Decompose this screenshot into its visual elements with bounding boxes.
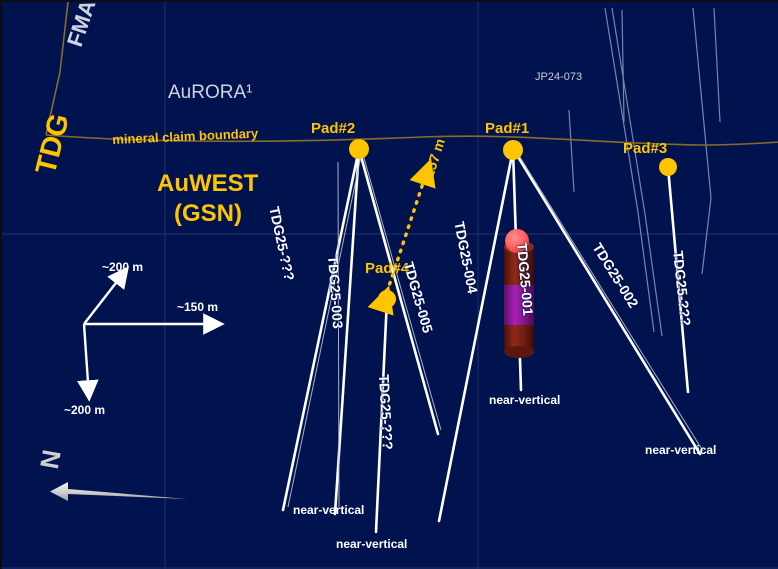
mineral-claim-boundary — [46, 2, 778, 145]
trace-tdg25-pad4 — [376, 299, 387, 532]
trace-tdg25-005 — [359, 149, 438, 434]
pad-marker-2 — [349, 139, 369, 159]
trace-tdg25-unknown-east — [668, 167, 688, 392]
distance-arrow-157m — [387, 165, 429, 292]
north-arrow — [50, 482, 187, 501]
drill-core-tdg25-001 — [504, 229, 534, 358]
pad-marker-1 — [503, 140, 523, 160]
pad-marker-4 — [378, 290, 396, 308]
drill-plan-map: FMAR AuRORA¹ TDG AuWEST (GSN) mineral cl… — [0, 0, 778, 569]
scale-bar — [84, 270, 220, 397]
pad-marker-3 — [659, 158, 677, 176]
trace-tdg25-002 — [515, 152, 700, 454]
trace-tdg25-004 — [439, 150, 513, 521]
drill-hole-trace-shadows — [288, 151, 703, 507]
historic-drill-traces — [569, 8, 720, 336]
map-canvas — [2, 2, 778, 569]
